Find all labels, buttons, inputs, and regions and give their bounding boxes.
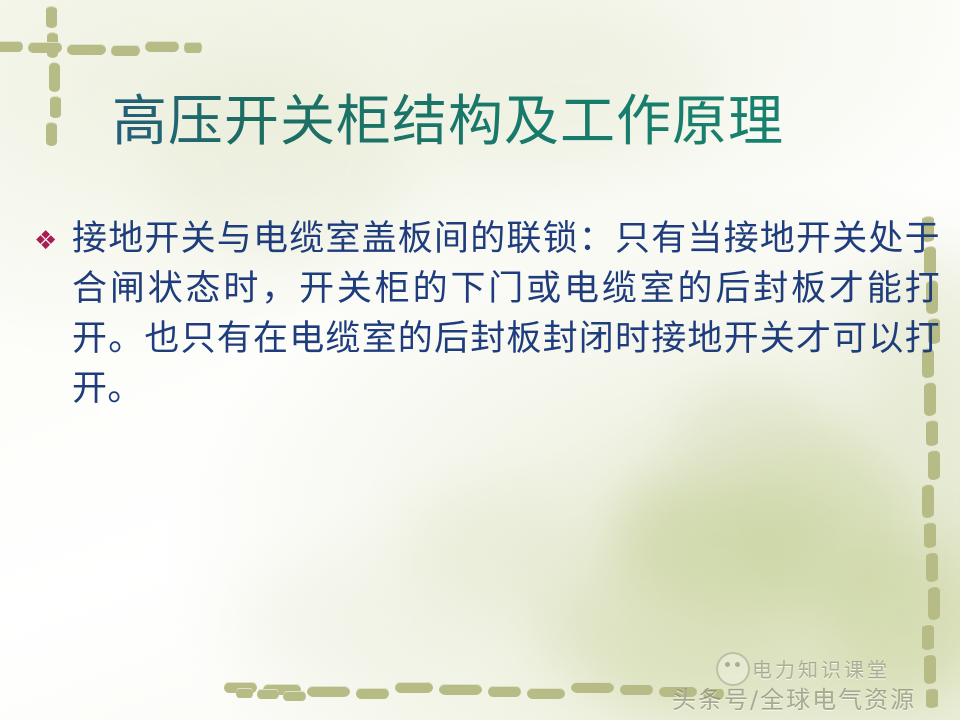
bamboo-segment [46,122,57,146]
bamboo-segment [184,42,202,53]
bamboo-segment [283,691,306,701]
slide-title: 高压开关柜结构及工作原理 [112,92,892,150]
bamboo-stalk-horizontal-topleft [0,40,202,58]
bamboo-segment [571,682,614,693]
bullet-paragraph-block: ❖ 接地开关与电缆室盖板间的联锁：只有当接地开关处于合闸状态时，开关柜的下门或电… [34,214,940,414]
bamboo-segment [439,684,482,695]
bamboo-segment [527,688,565,699]
circle-face-logo-icon [716,652,750,686]
bamboo-segment [620,684,653,695]
bamboo-segment [49,62,60,92]
bamboo-segment [67,44,106,55]
bamboo-segment [922,624,934,650]
bamboo-segment [922,484,934,518]
bamboo-segment [395,682,433,693]
bamboo-segment [356,688,389,699]
bamboo-segment [307,686,350,697]
bamboo-segment [111,45,140,56]
bamboo-segment [926,688,938,708]
foliage-blob [600,612,900,720]
bamboo-segment [236,688,253,698]
bamboo-segment [928,586,940,620]
bamboo-segment [703,688,724,699]
bamboo-segment [145,41,179,52]
bamboo-segment [488,686,521,697]
bamboo-segment [924,654,936,684]
bamboo-segment [257,689,279,699]
bamboo-segment [0,41,23,52]
bamboo-segment [926,420,938,446]
foliage-blob [250,560,490,680]
bamboo-segment [50,96,61,118]
bamboo-segment [659,686,697,697]
bamboo-segment [28,42,62,53]
body-paragraph: 接地开关与电缆室盖板间的联锁：只有当接地开关处于合闸状态时，开关柜的下门或电缆室… [72,214,940,414]
bullet-diamond-icon: ❖ [34,228,72,254]
bamboo-segment [926,552,938,582]
bamboo-segment [46,6,57,28]
bamboo-stalk-horizontal-bottom-stub [236,688,306,704]
bamboo-stalk-vertical-topleft [46,6,62,146]
bamboo-segment [924,522,936,548]
bamboo-segment [928,450,940,480]
slide-canvas: 高压开关柜结构及工作原理 ❖ 接地开关与电缆室盖板间的联锁：只有当接地开关处于合… [0,0,960,720]
